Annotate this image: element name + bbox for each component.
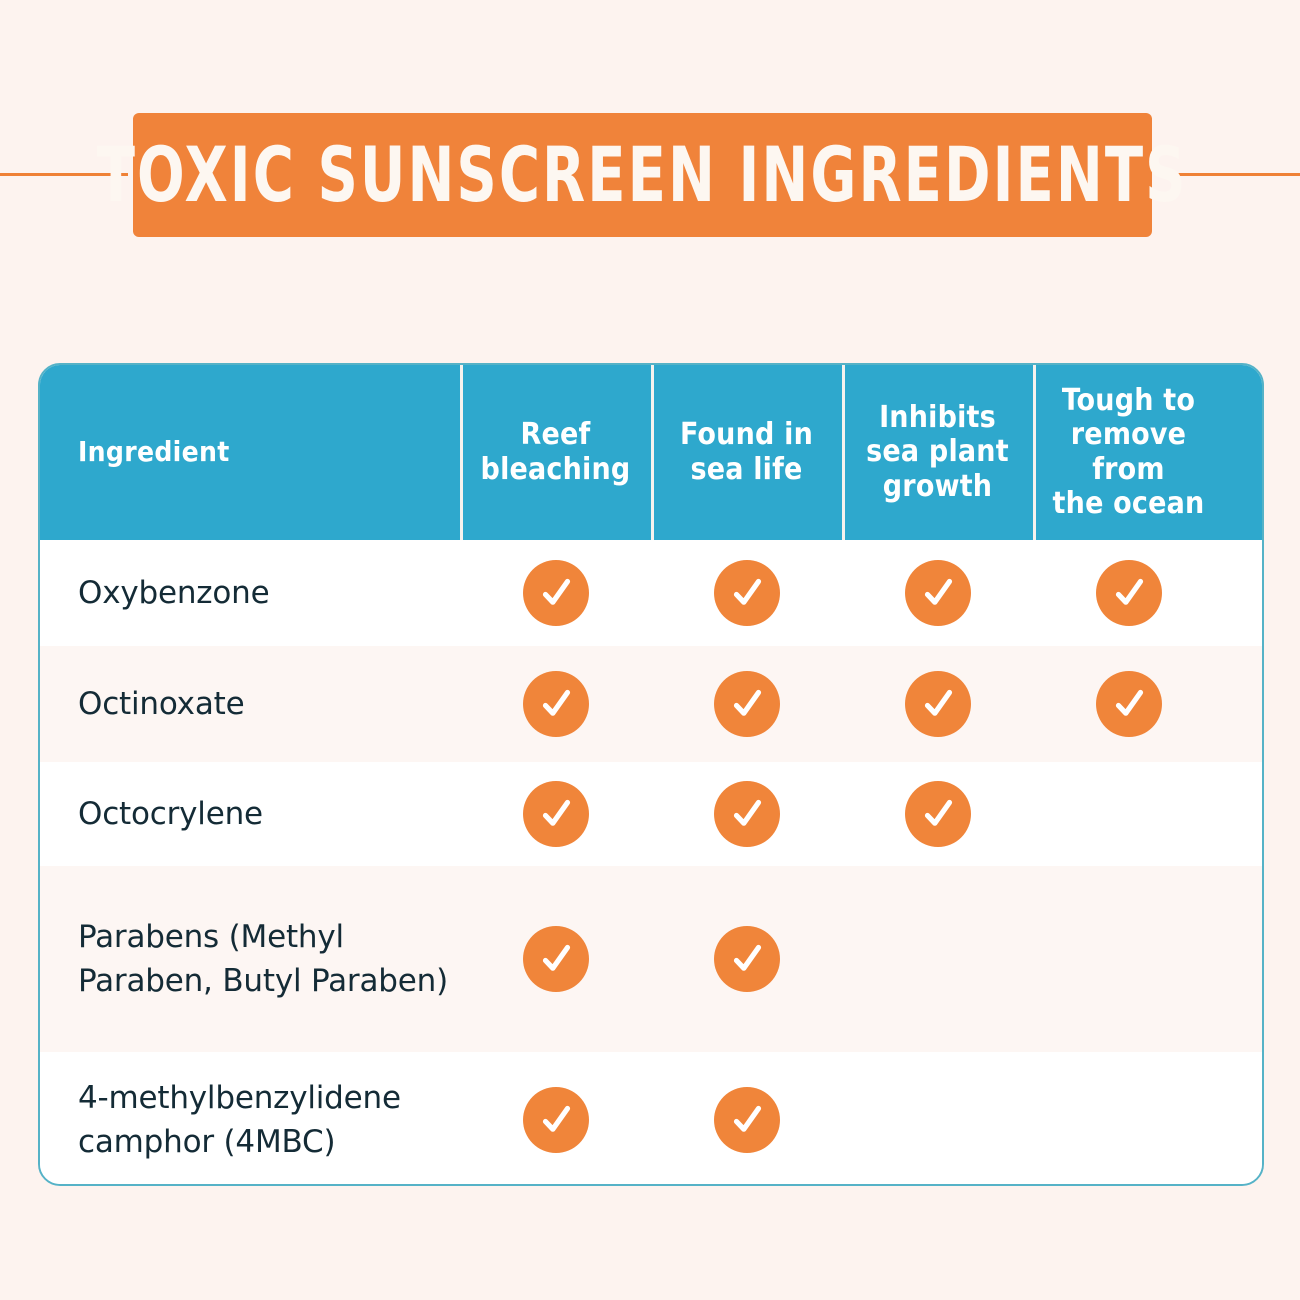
cell-tough_to_remove (1033, 762, 1224, 866)
title-banner-area: TOXIC SUNSCREEN INGREDIENTS (0, 113, 1300, 237)
check-circle-icon (714, 671, 780, 737)
check-circle-icon (714, 926, 780, 992)
cell-found_in_sea_life (651, 646, 842, 762)
empty-cell-placeholder (905, 1087, 971, 1153)
check-circle-icon (905, 671, 971, 737)
cell-reef_bleaching (460, 762, 651, 866)
cell-reef_bleaching (460, 540, 651, 646)
table-row: 4-methylbenzylidene camphor (4MBC) (40, 1052, 1262, 1186)
ingredient-label: Octocrylene (78, 792, 263, 836)
cell-inhibits_sea_plant_growth (842, 540, 1033, 646)
table-body: OxybenzoneOctinoxateOctocryleneParabens … (40, 540, 1262, 1186)
check-circle-icon (714, 1087, 780, 1153)
cell-tough_to_remove (1033, 866, 1224, 1052)
empty-cell-placeholder (905, 926, 971, 992)
cell-reef_bleaching (460, 866, 651, 1052)
column-header-inhibits-sea-plant-growth-label: Inhibitssea plantgrowth (866, 401, 1009, 505)
column-header-ingredient-label: Ingredient (78, 436, 230, 468)
table-row: Octinoxate (40, 646, 1262, 762)
table-row: Octocrylene (40, 762, 1262, 866)
check-circle-icon (523, 671, 589, 737)
check-circle-icon (523, 1087, 589, 1153)
check-circle-icon (523, 560, 589, 626)
cell-inhibits_sea_plant_growth (842, 762, 1033, 866)
column-header-found-in-sea-life: Found insea life (651, 365, 842, 540)
check-circle-icon (1096, 671, 1162, 737)
check-circle-icon (714, 781, 780, 847)
cell-found_in_sea_life (651, 762, 842, 866)
check-circle-icon (714, 560, 780, 626)
cell-reef_bleaching (460, 1052, 651, 1186)
cell-tough_to_remove (1033, 540, 1224, 646)
cell-inhibits_sea_plant_growth (842, 646, 1033, 762)
cell-found_in_sea_life (651, 866, 842, 1052)
check-circle-icon (905, 560, 971, 626)
page-title: TOXIC SUNSCREEN INGREDIENTS (97, 137, 1188, 213)
cell-ingredient-name: Octinoxate (40, 646, 460, 762)
cell-ingredient-name: 4-methylbenzylidene camphor (4MBC) (40, 1052, 460, 1186)
ingredient-label: 4-methylbenzylidene camphor (4MBC) (78, 1076, 450, 1164)
cell-ingredient-name: Parabens (Methyl Paraben, Butyl Paraben) (40, 866, 460, 1052)
column-header-tough-to-remove: Tough toremove fromthe ocean (1033, 365, 1224, 540)
check-circle-icon (523, 781, 589, 847)
cell-inhibits_sea_plant_growth (842, 1052, 1033, 1186)
ingredients-table: Ingredient Reefbleaching Found insea lif… (38, 363, 1264, 1186)
check-circle-icon (1096, 560, 1162, 626)
column-header-reef-bleaching-label: Reefbleaching (481, 418, 631, 487)
empty-cell-placeholder (1096, 926, 1162, 992)
cell-ingredient-name: Oxybenzone (40, 540, 460, 646)
cell-ingredient-name: Octocrylene (40, 762, 460, 866)
table-row: Oxybenzone (40, 540, 1262, 646)
empty-cell-placeholder (1096, 781, 1162, 847)
check-circle-icon (905, 781, 971, 847)
column-header-reef-bleaching: Reefbleaching (460, 365, 651, 540)
column-header-tough-to-remove-label: Tough toremove fromthe ocean (1033, 384, 1224, 522)
title-banner: TOXIC SUNSCREEN INGREDIENTS (133, 113, 1152, 237)
column-header-found-in-sea-life-label: Found insea life (680, 418, 813, 487)
ingredient-label: Oxybenzone (78, 571, 269, 615)
cell-reef_bleaching (460, 646, 651, 762)
table-row: Parabens (Methyl Paraben, Butyl Paraben) (40, 866, 1262, 1052)
check-circle-icon (523, 926, 589, 992)
cell-inhibits_sea_plant_growth (842, 866, 1033, 1052)
cell-tough_to_remove (1033, 646, 1224, 762)
cell-found_in_sea_life (651, 540, 842, 646)
ingredient-label: Parabens (Methyl Paraben, Butyl Paraben) (78, 915, 450, 1003)
column-header-ingredient: Ingredient (40, 365, 460, 540)
empty-cell-placeholder (1096, 1087, 1162, 1153)
table-header-row: Ingredient Reefbleaching Found insea lif… (40, 365, 1262, 540)
column-header-inhibits-sea-plant-growth: Inhibitssea plantgrowth (842, 365, 1033, 540)
cell-found_in_sea_life (651, 1052, 842, 1186)
ingredient-label: Octinoxate (78, 682, 244, 726)
cell-tough_to_remove (1033, 1052, 1224, 1186)
